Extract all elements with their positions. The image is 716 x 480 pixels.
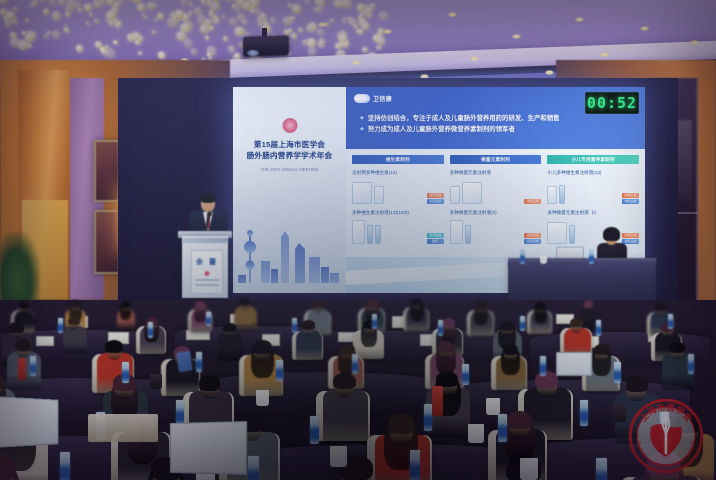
product-image-row: 国家医保 独家品种 <box>547 178 639 204</box>
cup <box>330 446 347 467</box>
speaker-hair <box>200 194 216 203</box>
product-box-icon <box>450 220 463 244</box>
water-bottle <box>596 320 601 336</box>
product-column-header: 小儿专用营养素制剂 <box>547 155 639 164</box>
conference-photo: 第15届上海市医学会 肠外肠内营养学学术年会 THE 15TH ANNUAL M… <box>0 0 716 480</box>
audience-hair <box>121 301 130 308</box>
product-tags: 国家医保 独家品种 <box>622 193 639 205</box>
audience-hair <box>626 376 648 392</box>
audience-torso <box>218 332 243 361</box>
product-box-icon <box>547 186 557 204</box>
audience-hair <box>476 301 487 309</box>
nameplate-emblem-icon <box>205 271 210 276</box>
audience-member <box>406 297 428 334</box>
podium-nameplate: 余 蕾 <box>191 250 223 294</box>
water-bottle <box>580 400 588 426</box>
smartphone <box>177 351 193 372</box>
water-bottle <box>30 356 36 376</box>
magnolia-emblem-icon <box>282 118 297 133</box>
audience-hair <box>367 299 378 307</box>
product-tags: 国家医保 基药目录 <box>524 233 541 245</box>
audience-hair <box>68 317 80 326</box>
audience-member <box>0 453 33 480</box>
watermark-year: 1917 <box>662 454 670 458</box>
cup <box>612 404 626 422</box>
cup <box>150 374 162 389</box>
slide-bullet: ◆ 努力成为成人及儿童肠外营养微营养素制剂的领军者 <box>360 124 637 135</box>
audience-hair <box>199 375 220 391</box>
audience-member <box>62 316 86 356</box>
audience-hair <box>388 414 416 434</box>
brand-mark-icon <box>354 94 370 103</box>
bullet-text: 坚持仿创结合，专注于成人及儿童肠外营养用药的研发、生产和销售 <box>368 113 560 124</box>
water-bottle <box>276 360 283 381</box>
water-bottle <box>520 316 525 331</box>
product-image-row: 国家医保 独家 <box>352 218 444 244</box>
tag-catalog: 基药目录 <box>427 199 444 204</box>
audience-hair <box>9 322 23 333</box>
product-name: 注射用多种维生素(12) <box>352 169 444 176</box>
brand-name: 卫信康 <box>373 94 392 103</box>
tag-insurance: 国家医保 <box>524 233 541 238</box>
water-bottle <box>148 322 153 338</box>
water-bottle <box>614 362 621 383</box>
nameplate-line <box>195 279 219 281</box>
tag-catalog: 基药目录 <box>524 239 541 244</box>
conference-title-line2: 肠外肠内营养学学术年会 <box>237 150 342 161</box>
tag-insurance: 国家医保 <box>427 233 444 238</box>
vial-icon <box>465 225 471 244</box>
product-name: 小儿多种维生素注射液(13) <box>547 169 639 176</box>
water-bottle <box>372 314 377 329</box>
audience-hair <box>594 344 610 356</box>
audience-hair <box>500 321 514 331</box>
water-bottle <box>668 314 673 329</box>
product-item: 注射用多种维生素(12) 国家医保 基药目录 <box>352 169 444 204</box>
product-box-icon <box>450 186 460 204</box>
timer-value: 00:52 <box>587 94 637 112</box>
product-column: 维生素制剂 注射用多种维生素(12) 国家医保 基药目录 <box>352 155 444 244</box>
red-thermos <box>18 358 26 380</box>
water-bottle <box>206 312 211 326</box>
water-bottle <box>310 416 319 444</box>
audience-hair <box>302 320 315 330</box>
product-image-row: 国家医保 基药目录 <box>450 218 542 244</box>
product-tags: 国家医保 <box>524 199 541 204</box>
product-name: 多种微量元素注射液（I） <box>547 209 639 216</box>
audience-member <box>495 343 526 394</box>
audience-hair <box>535 302 546 310</box>
tag-insurance: 国家医保 <box>427 193 444 198</box>
vial-icon <box>375 225 381 244</box>
water-bottle <box>688 354 694 374</box>
audience-hair <box>411 298 422 306</box>
brand-logo: 卫信康 <box>354 94 392 103</box>
audience-hair <box>195 301 205 309</box>
shanghai-medical-association-watermark: 上海市医学会 SHANGHAI MEDICAL ASSOCIATION 1917 <box>628 398 704 474</box>
water-bottle <box>248 456 259 480</box>
bullet-diamond-icon: ◆ <box>360 113 364 124</box>
audience-hair <box>669 342 685 354</box>
water-bottle <box>462 364 469 385</box>
moderator-hair <box>603 227 620 241</box>
bullet-diamond-icon: ◆ <box>360 124 364 135</box>
product-column: 微量元素制剂 多种微量元素注射液 国家医保 多种微量元素注射液(II) <box>450 155 542 244</box>
product-tags: 国家医保 基药目录 <box>427 193 444 205</box>
product-box-icon <box>374 186 384 204</box>
vial-icon <box>569 225 575 244</box>
audience-hair <box>570 318 584 328</box>
product-item: 小儿多种维生素注射液(13) 国家医保 独家品种 <box>547 169 639 204</box>
audience-hair <box>655 303 666 311</box>
audience-member <box>530 301 551 336</box>
water-bottle <box>520 249 525 264</box>
water-bottle <box>292 318 297 333</box>
audience-hair <box>223 323 235 332</box>
audience-hair <box>19 302 29 310</box>
audience-hair <box>253 340 272 354</box>
water-bottle <box>122 362 129 383</box>
bullet-text: 努力成为成人及儿童肠外营养微营养素制剂的领军者 <box>368 124 515 135</box>
product-box-icon <box>462 182 482 204</box>
lunch-box <box>88 414 158 442</box>
conference-subtitle: THE 15TH ANNUAL MEETING <box>237 167 342 173</box>
product-name: 多种维生素注射液(13)(10/3) <box>352 209 444 216</box>
water-bottle <box>410 450 420 480</box>
vial-icon <box>367 225 373 244</box>
audience-laptop <box>170 421 247 475</box>
product-box-icon <box>352 182 372 204</box>
countdown-timer: 00:52 <box>585 92 639 114</box>
audience-hair <box>0 455 16 480</box>
audience-hair <box>503 344 518 355</box>
audience-hair <box>438 341 454 353</box>
product-item: 多种微量元素注射液 国家医保 <box>450 169 542 204</box>
water-bottle <box>60 452 70 480</box>
audience-hair <box>333 373 356 390</box>
red-thermos <box>432 386 443 416</box>
product-box-icon <box>352 220 365 244</box>
projector-lens-icon <box>247 50 259 56</box>
conference-title: 第15届上海市医学会 肠外肠内营养学学术年会 <box>237 139 342 161</box>
product-item: 多种微量元素注射液(II) 国家医保 基药目录 <box>450 209 542 244</box>
audience-hair <box>15 339 31 351</box>
audience-hair <box>0 374 4 389</box>
product-tags: 国家医保 独家 <box>427 233 444 245</box>
product-image-row: 国家医保 基药目录 <box>352 178 444 204</box>
shanghai-skyline-graphic <box>233 203 346 295</box>
water-bottle <box>596 458 607 480</box>
water-bottle <box>352 354 358 374</box>
audience-member <box>470 301 493 339</box>
vial-icon <box>559 185 565 204</box>
audience-hair <box>442 318 455 327</box>
water-bottle <box>438 320 443 336</box>
cup <box>256 390 269 406</box>
audience-hair <box>436 371 458 387</box>
product-box-icon <box>547 222 567 244</box>
product-image-row: 国家医保 <box>450 178 542 204</box>
water-bottle <box>196 352 202 372</box>
audience-member <box>217 322 242 363</box>
cup <box>486 398 500 415</box>
product-column-header: 微量元素制剂 <box>450 155 542 164</box>
slide-title-panel: 第15届上海市医学会 肠外肠内营养学学术年会 THE 15TH ANNUAL M… <box>233 87 346 295</box>
water-bottle <box>58 318 63 333</box>
cup <box>520 458 538 480</box>
audience-hair <box>105 340 123 353</box>
slide-bullet: ◆ 坚持仿创结合，专注于成人及儿童肠外营养用药的研发、生产和销售 <box>360 113 637 124</box>
audience-hair <box>239 298 250 306</box>
water-bottle <box>498 414 507 442</box>
audience-member <box>322 371 368 447</box>
audience-laptop <box>556 352 592 376</box>
slide-bullet-list: ◆ 坚持仿创结合，专注于成人及儿童肠外营养用药的研发、生产和销售 ◆ 努力成为成… <box>360 113 637 135</box>
product-item: 多种维生素注射液(13)(10/3) 国家医保 独家 <box>352 209 444 244</box>
product-name: 多种微量元素注射液 <box>450 169 542 176</box>
conference-title-line1: 第15届上海市医学会 <box>237 139 342 150</box>
audience-member <box>295 319 322 363</box>
water-bottle <box>540 356 546 376</box>
audience-hair <box>507 411 532 429</box>
tag-catalog: 独家 <box>427 239 444 244</box>
audience-laptop <box>0 396 58 448</box>
product-column-header: 维生素制剂 <box>352 155 444 164</box>
audience-member <box>116 301 135 332</box>
nameplate-name: 余 蕾 <box>192 257 222 267</box>
product-name: 多种微量元素注射液(II) <box>450 209 542 216</box>
tag-exclusive: 独家品种 <box>622 199 639 204</box>
water-bottle <box>589 249 594 264</box>
tag-insurance: 国家医保 <box>622 193 639 198</box>
audience-hair <box>70 300 81 308</box>
audience-hair <box>313 301 324 309</box>
cup <box>468 424 484 443</box>
audience-hair <box>584 300 593 307</box>
tag-insurance: 国家医保 <box>524 199 541 204</box>
cup <box>540 256 547 264</box>
podium-banner-strip <box>182 238 228 243</box>
nameplate-line <box>195 284 219 286</box>
